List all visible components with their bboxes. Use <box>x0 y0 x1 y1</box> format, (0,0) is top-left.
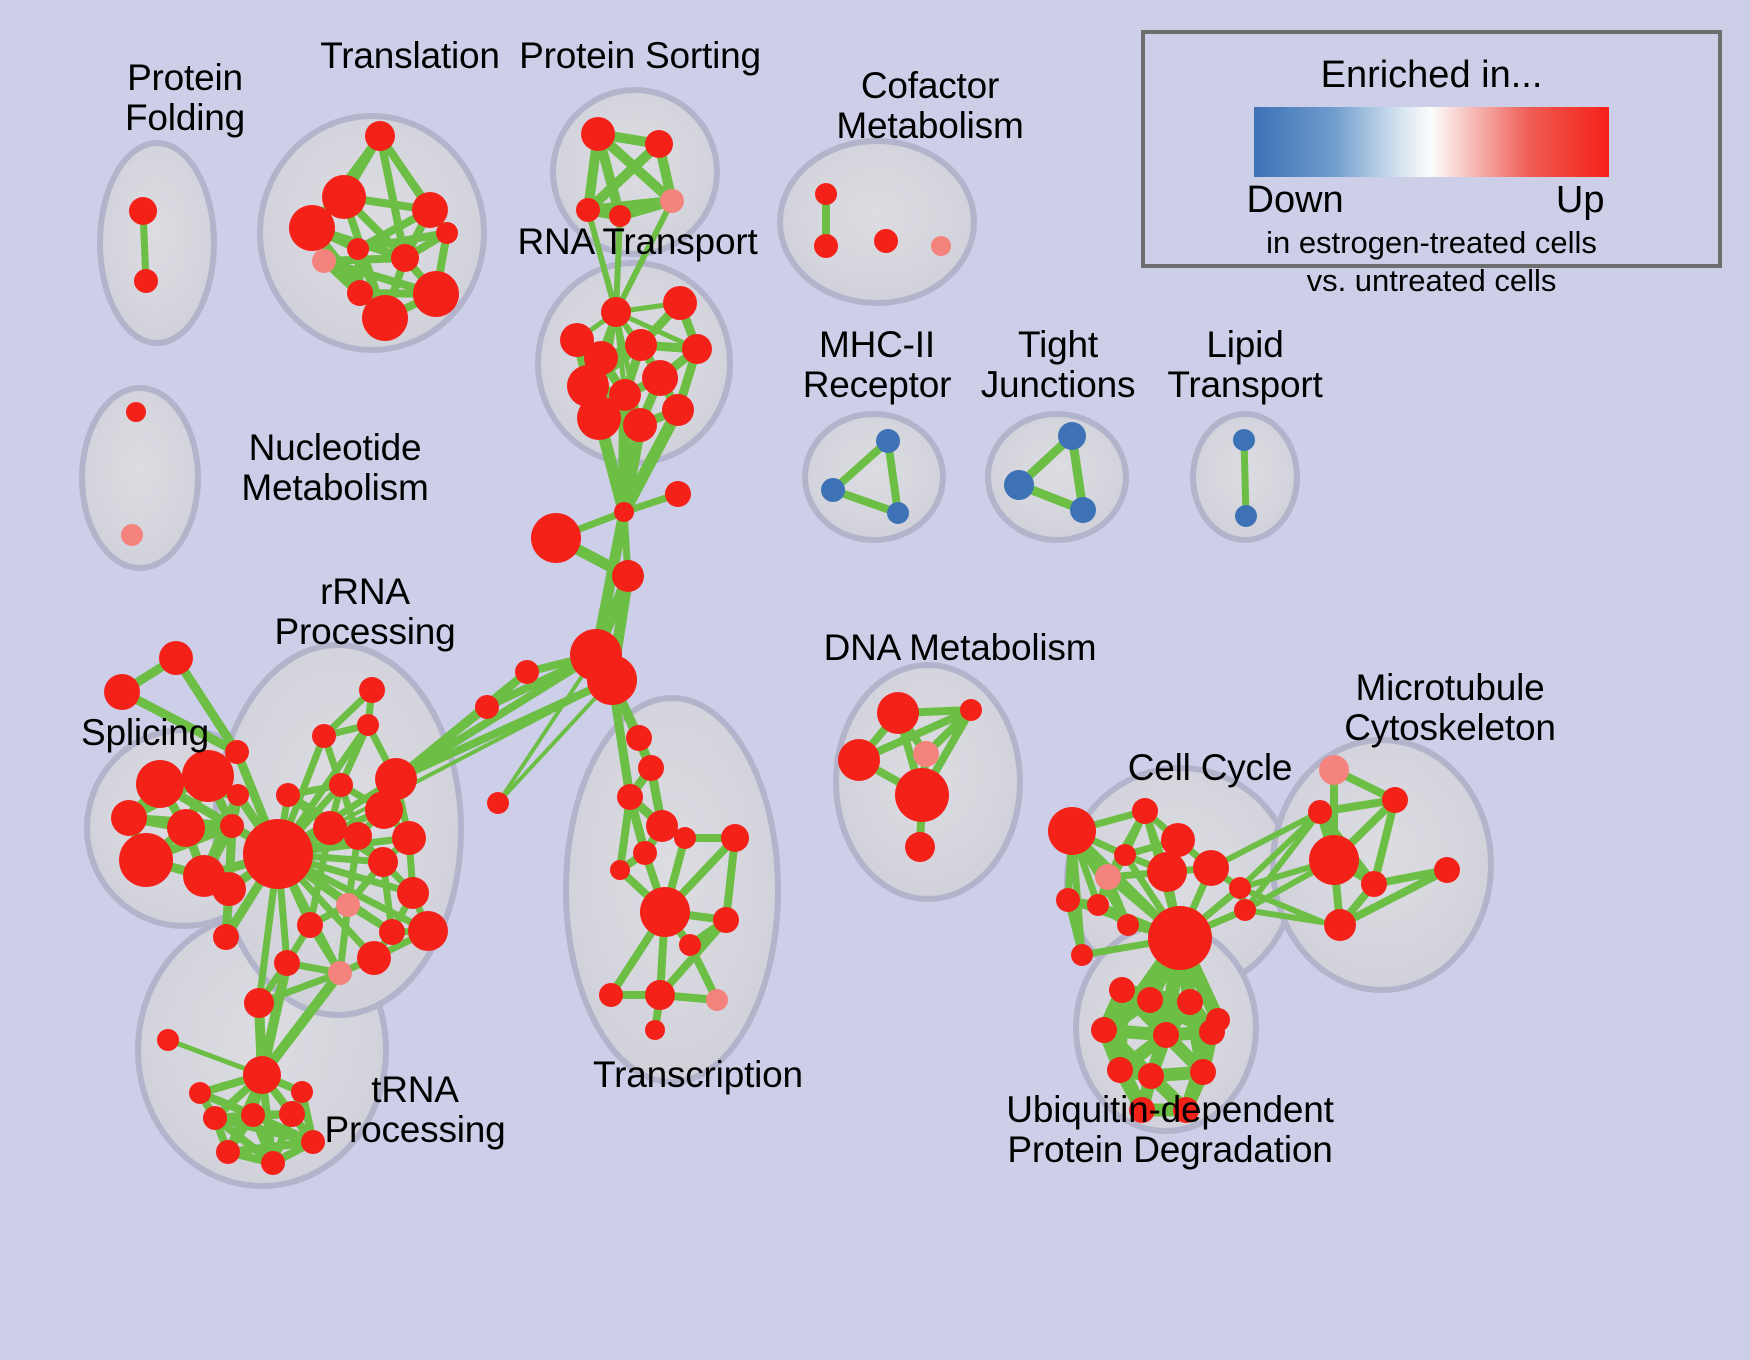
cluster-label-protein-folding: Protein Folding <box>80 58 290 138</box>
cluster-label-cell-cycle: Cell Cycle <box>1100 748 1320 788</box>
node <box>931 236 951 256</box>
node <box>625 329 657 361</box>
node <box>379 919 405 945</box>
node <box>276 783 300 807</box>
cluster-label-trna-processing: tRNA Processing <box>300 1070 530 1150</box>
cluster-label-ubiquitin-degradation: Ubiquitin-dependent Protein Degradation <box>985 1090 1355 1170</box>
node <box>1058 422 1086 450</box>
node <box>1319 755 1349 785</box>
node <box>617 784 643 810</box>
node <box>515 660 539 684</box>
node <box>126 402 146 422</box>
node <box>1177 989 1203 1015</box>
node <box>601 297 631 327</box>
node <box>129 197 157 225</box>
node <box>1070 497 1096 523</box>
node <box>1087 894 1109 916</box>
node <box>227 784 249 806</box>
node <box>663 286 697 320</box>
node <box>220 814 244 838</box>
node <box>645 980 675 1010</box>
node <box>626 725 652 751</box>
node <box>645 1020 665 1040</box>
node <box>642 360 678 396</box>
cluster-label-microtubule-cytoskeleton: Microtubule Cytoskeleton <box>1300 668 1600 748</box>
cluster-label-cofactor-metabolism: Cofactor Metabolism <box>795 66 1065 146</box>
node <box>359 677 385 703</box>
node <box>610 860 630 880</box>
node <box>104 674 140 710</box>
halo-cofactor <box>780 141 974 303</box>
node <box>531 513 581 563</box>
node <box>136 760 184 808</box>
node <box>408 911 448 951</box>
cluster-label-protein-sorting: Protein Sorting <box>500 36 780 76</box>
node <box>1233 429 1255 451</box>
legend-title: Enriched in... <box>1145 54 1718 97</box>
node <box>1206 1008 1230 1032</box>
node <box>313 811 347 845</box>
node <box>887 502 909 524</box>
cluster-label-lipid-transport: Lipid Transport <box>1135 325 1355 405</box>
legend-color-gradient-bar <box>1254 107 1609 177</box>
node <box>1161 823 1195 857</box>
node <box>328 961 352 985</box>
node <box>119 833 173 887</box>
legend-low-label: Down <box>1247 179 1344 222</box>
node <box>111 800 147 836</box>
node <box>814 234 838 258</box>
node <box>877 692 919 734</box>
node <box>1137 987 1163 1013</box>
node <box>1004 470 1034 500</box>
cluster-label-transcription: Transcription <box>568 1055 828 1095</box>
node <box>347 238 369 260</box>
node <box>1107 1057 1133 1083</box>
node <box>1234 899 1256 921</box>
node <box>397 877 429 909</box>
node <box>362 295 408 341</box>
node <box>874 229 898 253</box>
node <box>1434 857 1460 883</box>
node <box>623 408 657 442</box>
legend-endpoint-labels: Down Up <box>1237 179 1627 223</box>
node <box>336 893 360 917</box>
node <box>587 655 637 705</box>
node <box>838 739 880 781</box>
node <box>1324 909 1356 941</box>
enrichment-map-figure: Protein Folding Translation Protein Sort… <box>0 0 1750 1360</box>
node <box>1138 1063 1164 1089</box>
node <box>329 773 353 797</box>
node <box>576 198 600 222</box>
node <box>368 847 398 877</box>
node <box>391 244 419 272</box>
node <box>413 271 459 317</box>
node <box>913 741 939 767</box>
node <box>1153 1022 1179 1048</box>
node <box>241 1103 265 1127</box>
node <box>713 907 739 933</box>
node <box>159 641 193 675</box>
node <box>645 130 673 158</box>
node <box>357 941 391 975</box>
node <box>1048 807 1096 855</box>
node <box>640 887 690 937</box>
node <box>1114 844 1136 866</box>
cluster-label-splicing: Splicing <box>55 713 235 753</box>
node <box>821 478 845 502</box>
node <box>614 502 634 522</box>
node <box>1193 850 1229 886</box>
node <box>660 189 684 213</box>
node <box>638 755 664 781</box>
node <box>581 117 615 151</box>
node <box>646 810 678 842</box>
node <box>365 121 395 151</box>
node <box>1382 787 1408 813</box>
node <box>1056 888 1080 912</box>
halo-protein-folding <box>100 143 214 343</box>
halo-mhc <box>805 414 943 540</box>
cluster-label-rna-transport: RNA Transport <box>505 222 770 262</box>
node <box>1309 835 1359 885</box>
node <box>721 824 749 852</box>
node <box>1229 877 1251 899</box>
node <box>1190 1059 1216 1085</box>
node <box>203 1106 227 1130</box>
cluster-label-rrna-processing: rRNA Processing <box>250 572 480 652</box>
legend-high-label: Up <box>1556 179 1605 222</box>
node <box>1095 864 1121 890</box>
node <box>392 821 426 855</box>
node <box>475 695 499 719</box>
node <box>599 983 623 1007</box>
node <box>1091 1017 1117 1043</box>
node <box>167 809 205 847</box>
node <box>1071 944 1093 966</box>
node <box>876 429 900 453</box>
node <box>357 714 379 736</box>
node <box>674 827 696 849</box>
node <box>312 249 336 273</box>
node <box>633 841 657 865</box>
node <box>1147 852 1187 892</box>
node <box>682 334 712 364</box>
node <box>1132 798 1158 824</box>
node <box>436 222 458 244</box>
node <box>243 1056 281 1094</box>
node <box>1308 800 1332 824</box>
node <box>1109 977 1135 1003</box>
node <box>216 1140 240 1164</box>
node <box>412 192 448 228</box>
node <box>895 768 949 822</box>
node <box>960 699 982 721</box>
node <box>297 912 323 938</box>
node <box>905 832 935 862</box>
legend-panel: Enriched in... Down Up in estrogen-treat… <box>1141 30 1722 268</box>
node <box>213 924 239 950</box>
node <box>487 792 509 814</box>
node <box>157 1029 179 1051</box>
node <box>289 205 335 251</box>
node <box>344 822 372 850</box>
node <box>1235 505 1257 527</box>
node <box>679 934 701 956</box>
node <box>261 1151 285 1175</box>
node <box>612 560 644 592</box>
node <box>243 819 313 889</box>
node <box>121 524 143 546</box>
node <box>665 481 691 507</box>
node <box>244 988 274 1018</box>
legend-caption-line1: in estrogen-treated cells <box>1145 225 1718 261</box>
node <box>365 791 403 829</box>
node <box>815 183 837 205</box>
cluster-label-nucleotide-metabolism: Nucleotide Metabolism <box>190 428 480 508</box>
cluster-label-dna-metabolism: DNA Metabolism <box>810 628 1110 668</box>
node <box>1148 906 1212 970</box>
node <box>212 872 246 906</box>
node <box>577 396 621 440</box>
node <box>1117 914 1139 936</box>
node <box>274 950 300 976</box>
node <box>662 394 694 426</box>
node <box>312 724 336 748</box>
node <box>706 989 728 1011</box>
legend-caption-line2: vs. untreated cells <box>1145 263 1718 299</box>
node <box>1361 871 1387 897</box>
node <box>189 1082 211 1104</box>
node <box>134 269 158 293</box>
node <box>182 750 234 802</box>
